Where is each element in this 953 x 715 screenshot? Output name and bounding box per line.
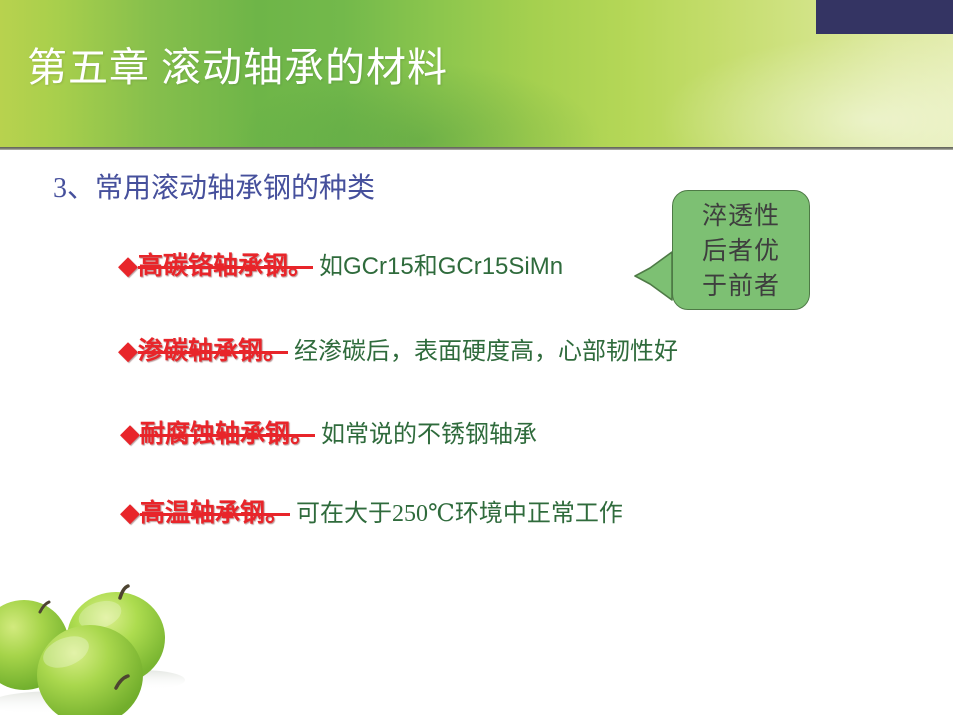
- green-apples-image: [0, 560, 240, 715]
- header-accent-block: [816, 0, 953, 34]
- callout-bubble: 淬透性 后者优 于前者: [672, 190, 810, 310]
- presentation-slide: 第五章 滚动轴承的材料 3、常用滚动轴承钢的种类 ◆高碳铬轴承钢。如GCr15和…: [0, 0, 953, 715]
- bullet-term: 高温轴承钢。: [140, 498, 290, 530]
- bullet-item: ◆渗碳轴承钢。经渗碳后，表面硬度高，心部韧性好: [118, 335, 678, 371]
- bullet-description: 如常说的不锈钢轴承: [315, 419, 537, 451]
- bullet-term: 渗碳轴承钢。: [138, 336, 288, 368]
- bullet-description: 如GCr15和GCr15SiMn: [313, 251, 563, 283]
- callout-line: 于前者: [673, 269, 809, 304]
- callout-line: 淬透性: [673, 199, 809, 234]
- bullet-item: ◆高温轴承钢。可在大于250℃环境中正常工作: [120, 497, 623, 533]
- bullet-item: ◆高碳铬轴承钢。如GCr15和GCr15SiMn: [118, 250, 563, 286]
- slide-title: 第五章 滚动轴承的材料: [27, 42, 448, 94]
- bullet-term: 耐腐蚀轴承钢。: [140, 419, 315, 451]
- bullet-item: ◆耐腐蚀轴承钢。如常说的不锈钢轴承: [120, 418, 537, 454]
- callout-pointer-icon: [634, 250, 674, 302]
- section-heading: 3、常用滚动轴承钢的种类: [53, 170, 375, 208]
- bullet-description: 可在大于250℃环境中正常工作: [290, 498, 623, 530]
- diamond-bullet-icon: ◆: [120, 418, 140, 450]
- diamond-bullet-icon: ◆: [118, 250, 138, 282]
- diamond-bullet-icon: ◆: [120, 497, 140, 529]
- diamond-bullet-icon: ◆: [118, 335, 138, 367]
- callout-line: 后者优: [673, 234, 809, 269]
- bullet-description: 经渗碳后，表面硬度高，心部韧性好: [288, 336, 678, 368]
- callout-body: 淬透性 后者优 于前者: [672, 190, 810, 310]
- bullet-term: 高碳铬轴承钢。: [138, 251, 313, 283]
- header-divider-rule: [0, 147, 953, 150]
